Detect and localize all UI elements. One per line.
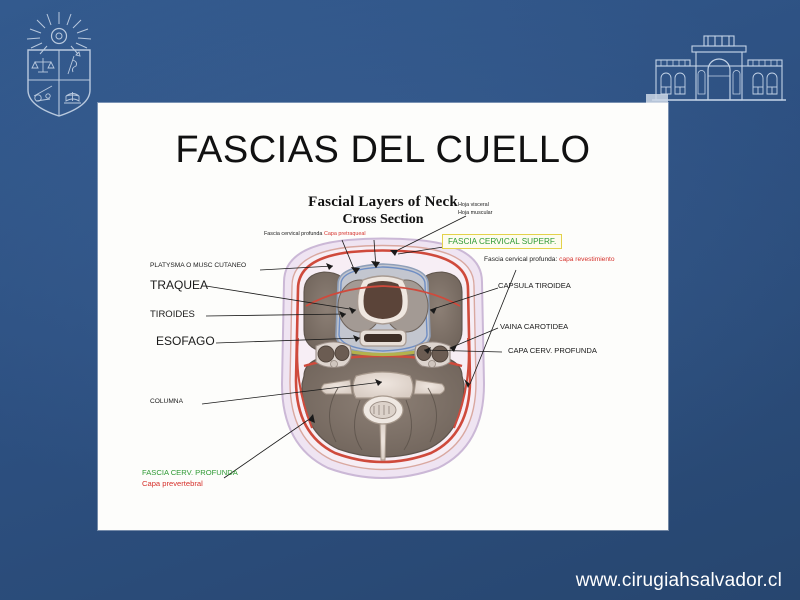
label-vaina-carotidea: VAINA CAROTIDEA <box>500 322 568 331</box>
label-capa-cerv-profunda: CAPA CERV. PROFUNDA <box>508 346 597 355</box>
label-esofago: ESOFAGO <box>156 334 215 349</box>
page-title: FASCIAS DEL CUELLO <box>98 129 668 172</box>
label-platysma: PLATYSMA O MUSC CUTANEO <box>150 262 246 270</box>
label-fascia-prevertebral-sub: Capa prevertebral <box>142 479 203 488</box>
label-pretracheal: Fascia cervical profunda Capa pretraquea… <box>264 231 366 238</box>
label-columna: COLUMNA <box>150 398 183 406</box>
label-tiroides: TIROIDES <box>150 309 195 321</box>
label-capsula-tiroidea: CAPSULA TIROIDEA <box>498 281 571 290</box>
slide-content-panel: FASCIAS DEL CUELLO Fascial Layers of Nec… <box>98 103 668 530</box>
label-hoja-visceral: Hoja visceral <box>458 202 489 209</box>
label-traquea: TRAQUEA <box>150 278 208 293</box>
hospital-building-logo <box>648 30 790 104</box>
neck-cross-section-diagram: Fascial Layers of Neck Cross Section <box>98 188 668 530</box>
label-fascia-prevertebral-title: FASCIA CERV. PROFUNDA <box>142 468 238 477</box>
label-hoja-muscular: Hoja muscular <box>458 210 492 217</box>
footer-website-url: www.cirugiahsalvador.cl <box>576 570 782 592</box>
label-capa-revestimiento: Fascia cervical profunda: capa revestimi… <box>484 256 615 264</box>
label-fascia-cervical-superf: FASCIA CERVICAL SUPERF. <box>442 234 562 249</box>
universidad-de-chile-crest <box>16 8 102 120</box>
